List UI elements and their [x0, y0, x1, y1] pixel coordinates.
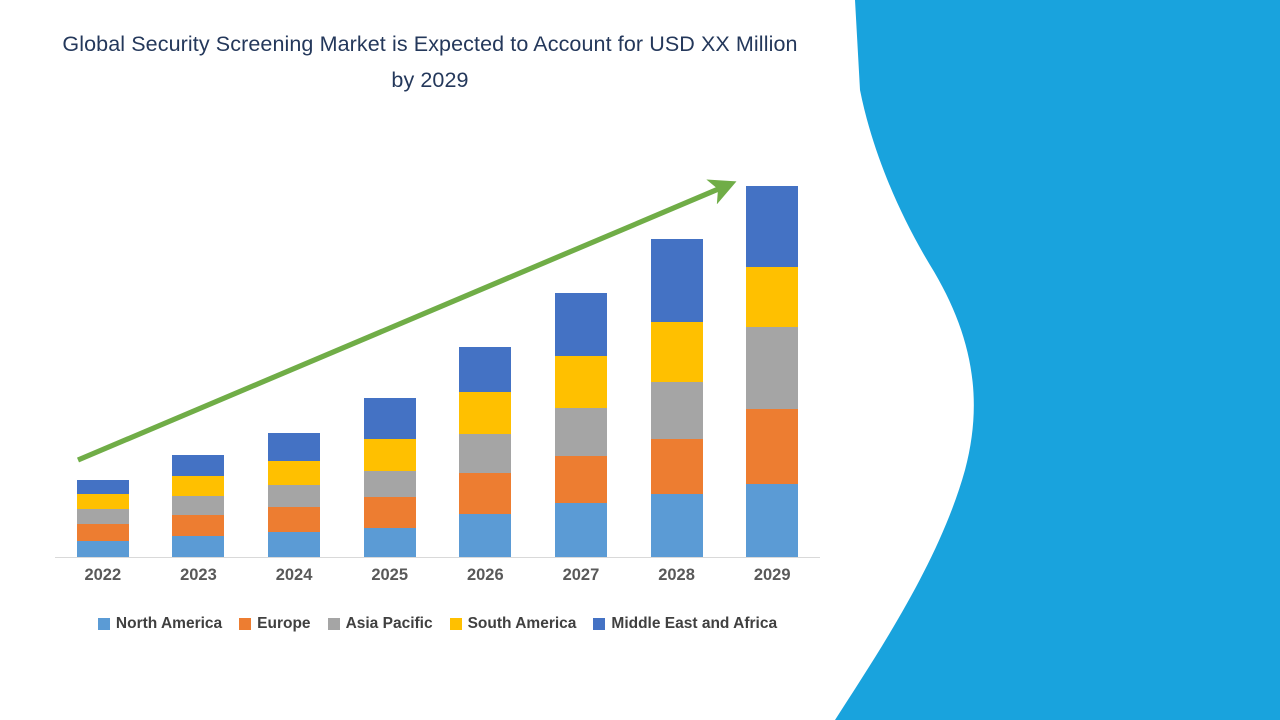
- bar-segment: [555, 503, 607, 558]
- stacked-bar-plot: [55, 160, 820, 558]
- bar-segment: [459, 514, 511, 558]
- x-axis-tick-label: 2025: [347, 566, 433, 585]
- bar-segment: [459, 473, 511, 514]
- bar-column: [77, 480, 129, 558]
- x-axis-tick-label: 2026: [442, 566, 528, 585]
- bar-segment: [268, 461, 320, 486]
- bar-segment: [651, 439, 703, 495]
- legend-swatch-icon: [328, 618, 340, 630]
- legend-swatch-icon: [98, 618, 110, 630]
- brand-panel-shape: [820, 0, 1280, 720]
- bar-segment: [746, 409, 798, 485]
- bar-segment: [746, 327, 798, 409]
- chart-legend: North AmericaEuropeAsia PacificSouth Ame…: [55, 615, 820, 633]
- bar-segment: [268, 507, 320, 532]
- bar-segment: [172, 476, 224, 496]
- bar-column: [268, 433, 320, 558]
- bar-segment: [77, 509, 129, 524]
- legend-swatch-icon: [239, 618, 251, 630]
- legend-item[interactable]: North America: [98, 615, 222, 633]
- legend-label: North America: [116, 615, 222, 633]
- bar-segment: [651, 494, 703, 558]
- x-axis-tick-label: 2024: [251, 566, 337, 585]
- legend-item[interactable]: South America: [450, 615, 577, 633]
- x-axis-tick-label: 2028: [634, 566, 720, 585]
- bar-segment: [77, 480, 129, 494]
- legend-label: Europe: [257, 615, 310, 633]
- bar-segment: [364, 471, 416, 497]
- bar-segment: [746, 267, 798, 328]
- x-axis-tick-label: 2027: [538, 566, 624, 585]
- legend-item[interactable]: Asia Pacific: [328, 615, 433, 633]
- bar-segment: [364, 398, 416, 439]
- bar-segment: [364, 528, 416, 558]
- bar-column: [555, 293, 607, 558]
- bar-segment: [77, 494, 129, 509]
- bar-segment: [172, 455, 224, 477]
- bar-column: [459, 347, 511, 558]
- bar-segment: [746, 484, 798, 558]
- x-axis-labels: 20222023202420252026202720282029: [55, 566, 820, 598]
- bar-segment: [746, 186, 798, 267]
- chart-panel: Global Security Screening Market is Expe…: [0, 0, 840, 720]
- bar-segment: [268, 485, 320, 507]
- infographic-slide: Global Security Screening Market is Expe…: [0, 0, 1280, 720]
- chart-title: Global Security Screening Market is Expe…: [60, 26, 800, 98]
- bar-segment: [459, 392, 511, 434]
- x-axis-tick-label: 2023: [155, 566, 241, 585]
- bar-segment: [651, 322, 703, 382]
- bar-segment: [268, 532, 320, 558]
- bar-segment: [555, 293, 607, 356]
- legend-label: South America: [468, 615, 577, 633]
- bar-segment: [555, 356, 607, 408]
- x-axis-line: [55, 557, 820, 558]
- bar-segment: [555, 408, 607, 456]
- legend-item[interactable]: Middle East and Africa: [593, 615, 777, 633]
- x-axis-tick-label: 2029: [729, 566, 815, 585]
- legend-item[interactable]: Europe: [239, 615, 310, 633]
- legend-label: Middle East and Africa: [611, 615, 777, 633]
- legend-swatch-icon: [593, 618, 605, 630]
- bar-segment: [364, 497, 416, 528]
- bar-segment: [651, 239, 703, 323]
- bar-segment: [459, 347, 511, 392]
- legend-swatch-icon: [450, 618, 462, 630]
- bar-segment: [172, 536, 224, 558]
- bar-segment: [651, 382, 703, 439]
- bar-segment: [77, 541, 129, 558]
- bar-segment: [77, 524, 129, 541]
- x-axis-tick-label: 2022: [60, 566, 146, 585]
- bar-column: [746, 186, 798, 558]
- brand-panel: Global Security Screening Market, By Reg…: [820, 0, 1280, 720]
- bar-segment: [268, 433, 320, 461]
- bar-segment: [172, 496, 224, 515]
- bar-segment: [172, 515, 224, 536]
- bar-segment: [364, 439, 416, 472]
- bar-segment: [555, 456, 607, 504]
- bar-column: [651, 239, 703, 558]
- bar-column: [172, 455, 224, 558]
- legend-label: Asia Pacific: [346, 615, 433, 633]
- bar-segment: [459, 434, 511, 474]
- bar-column: [364, 398, 416, 558]
